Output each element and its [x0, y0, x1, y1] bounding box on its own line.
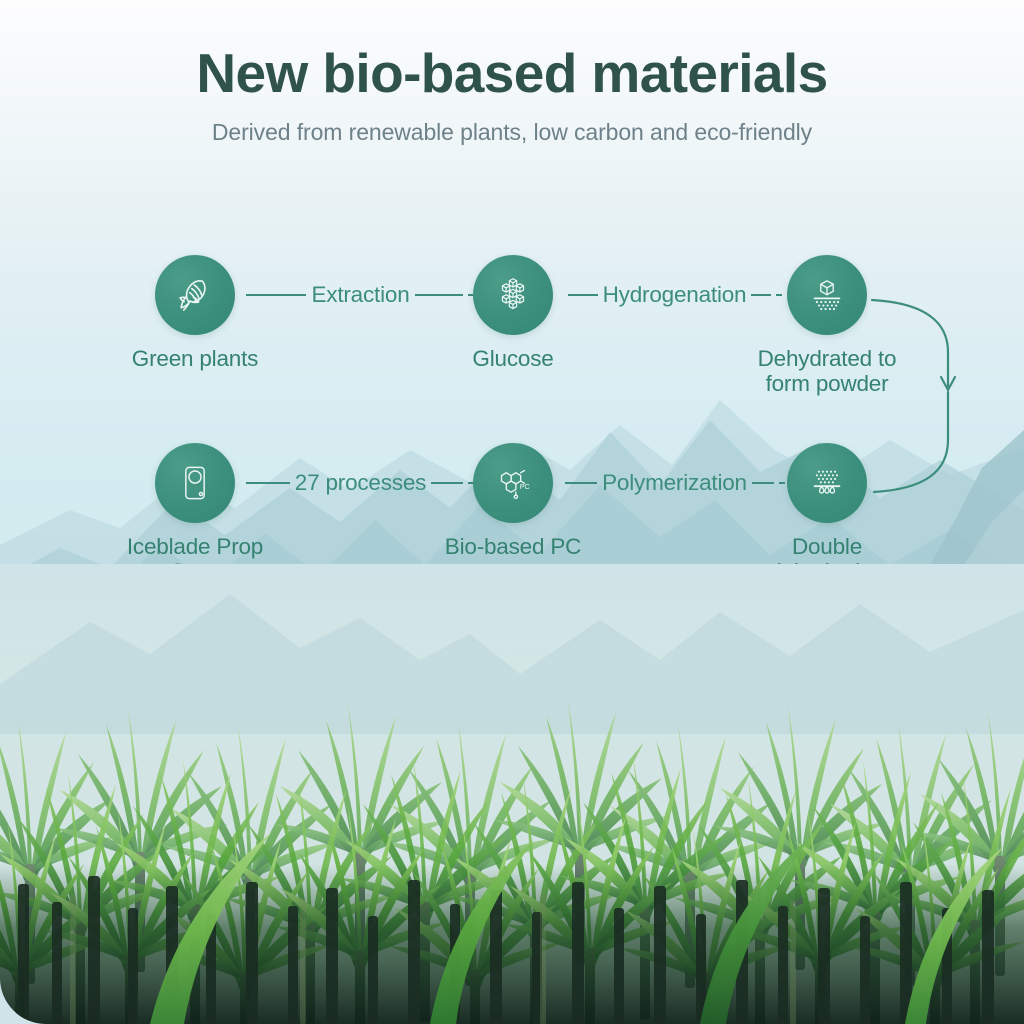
green-plants-icon-circle — [155, 255, 235, 335]
phone-case-icon — [173, 461, 217, 505]
sugarcane-field-photo — [0, 564, 1024, 1024]
corn-icon — [172, 272, 218, 318]
process-flow-diagram: Green plants Extraction — [0, 0, 1024, 600]
connector-label: 27 processes — [290, 472, 431, 495]
iceblade-prop-case-icon-circle — [155, 443, 235, 523]
connector-label: Polymerization — [597, 472, 752, 495]
flow-node-label: Bio-based PC — [423, 534, 603, 559]
powder-droplets-icon — [804, 460, 850, 506]
molecule-pc-icon: PC — [490, 460, 536, 506]
flow-node-glucose[interactable]: Glucose — [423, 255, 603, 371]
infographic-poster: New bio-based materials Derived from ren… — [0, 0, 1024, 1024]
connector-label: Hydrogenation — [598, 284, 752, 307]
dehydrated-powder-icon-circle — [787, 255, 867, 335]
sugar-cubes-icon — [491, 273, 535, 317]
molecule-badge-text: PC — [520, 482, 530, 491]
flow-node-label: Dehydrated to form powder — [737, 346, 917, 396]
double-dehydration-icon-circle — [787, 443, 867, 523]
flow-node-label: Green plants — [105, 346, 285, 371]
cube-powder-icon — [804, 272, 850, 318]
flow-node-label: Glucose — [423, 346, 603, 371]
flow-node-green-plants[interactable]: Green plants — [105, 255, 285, 371]
connector-label: Extraction — [306, 284, 414, 307]
flow-node-bio-based-pc[interactable]: PC Bio-based PC — [423, 443, 603, 559]
flow-node-dehydrated-powder[interactable]: Dehydrated to form powder — [737, 255, 917, 396]
